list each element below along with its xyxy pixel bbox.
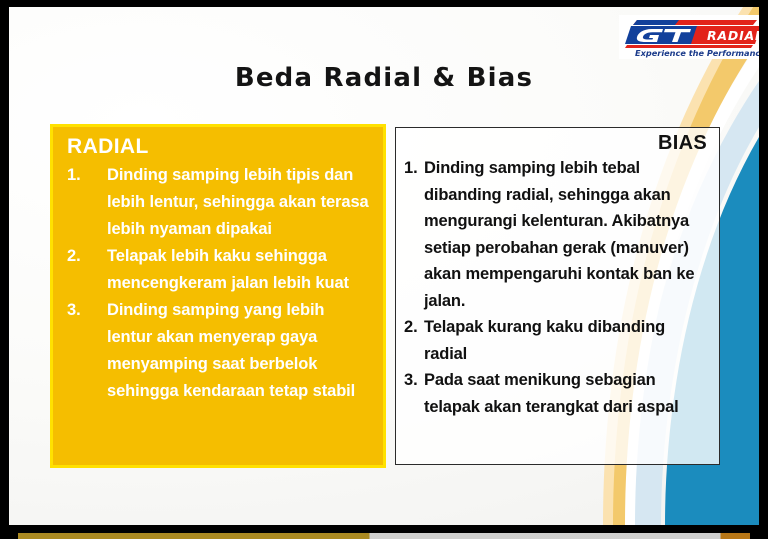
- logo-wordmark: RADIAL: [707, 28, 759, 43]
- list-item: 1. Dinding samping lebih tipis dan lebih…: [65, 162, 373, 243]
- slide-viewer: RADIAL Experience the Performance Beda R…: [0, 0, 768, 539]
- list-item-text: Telapak kurang kaku dibanding radial: [424, 314, 711, 367]
- list-item-text: Pada saat menikung sebagian telapak akan…: [424, 367, 711, 420]
- bias-panel: BIAS 1. Dinding samping lebih tebal diba…: [395, 127, 720, 465]
- radial-panel: RADIAL 1. Dinding samping lebih tipis da…: [50, 124, 386, 468]
- list-item: 3. Pada saat menikung sebagian telapak a…: [402, 367, 711, 420]
- presentation-slide: RADIAL Experience the Performance Beda R…: [9, 7, 759, 525]
- bias-panel-heading: BIAS: [402, 132, 707, 154]
- page-title: Beda Radial & Bias: [9, 63, 759, 93]
- list-item-text: Telapak lebih kaku sehingga mencengkeram…: [107, 243, 373, 297]
- logo-tagline: Experience the Performance: [635, 48, 759, 58]
- list-item-number: 1.: [404, 155, 424, 182]
- list-item: 2. Telapak kurang kaku dibanding radial: [402, 314, 711, 367]
- radial-point-list: 1. Dinding samping lebih tipis dan lebih…: [65, 162, 373, 405]
- list-item-number: 2.: [67, 243, 97, 270]
- list-item-text: Dinding samping yang lebih lentur akan m…: [107, 297, 373, 405]
- list-item-number: 3.: [67, 297, 97, 324]
- list-item-number: 3.: [404, 367, 424, 394]
- list-item-text: Dinding samping lebih tebal dibanding ra…: [424, 155, 711, 314]
- gt-radial-logo: RADIAL Experience the Performance: [619, 15, 759, 59]
- next-slide-sliver[interactable]: [18, 533, 750, 539]
- list-item: 1. Dinding samping lebih tebal dibanding…: [402, 155, 711, 314]
- list-item: 2. Telapak lebih kaku sehingga mencengke…: [65, 243, 373, 297]
- list-item-number: 1.: [67, 162, 97, 189]
- radial-panel-heading: RADIAL: [67, 136, 373, 158]
- list-item: 3. Dinding samping yang lebih lentur aka…: [65, 297, 373, 405]
- list-item-number: 2.: [404, 314, 424, 341]
- bias-point-list: 1. Dinding samping lebih tebal dibanding…: [402, 155, 711, 420]
- list-item-text: Dinding samping lebih tipis dan lebih le…: [107, 162, 373, 243]
